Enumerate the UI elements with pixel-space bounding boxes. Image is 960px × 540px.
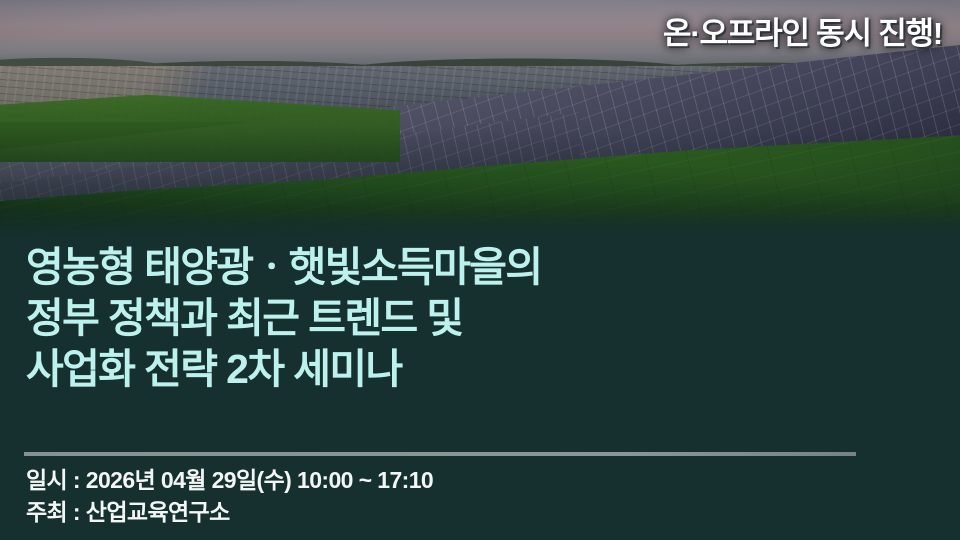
title-line-3: 사업화 전략 2차 세미나 <box>26 344 816 395</box>
divider <box>24 452 856 456</box>
event-meta: 일시 : 2026년 04월 29일(수) 10:00 ~ 17:10 주최 :… <box>26 464 433 528</box>
title-line-1: 영농형 태양광ㆍ햇빛소득마을의 <box>26 242 816 293</box>
info-panel: 영농형 태양광ㆍ햇빛소득마을의 정부 정책과 최근 트렌드 및 사업화 전략 2… <box>0 234 960 540</box>
page-title: 영농형 태양광ㆍ햇빛소득마을의 정부 정책과 최근 트렌드 및 사업화 전략 2… <box>26 242 816 395</box>
seminar-poster: 온·오프라인 동시 진행! 영농형 태양광ㆍ햇빛소득마을의 정부 정책과 최근 … <box>0 0 960 540</box>
event-host: 주최 : 산업교육연구소 <box>26 496 433 528</box>
event-datetime: 일시 : 2026년 04월 29일(수) 10:00 ~ 17:10 <box>26 464 433 496</box>
banner-text: 온·오프라인 동시 진행! <box>663 8 942 53</box>
title-line-2: 정부 정책과 최근 트렌드 및 <box>26 293 816 344</box>
